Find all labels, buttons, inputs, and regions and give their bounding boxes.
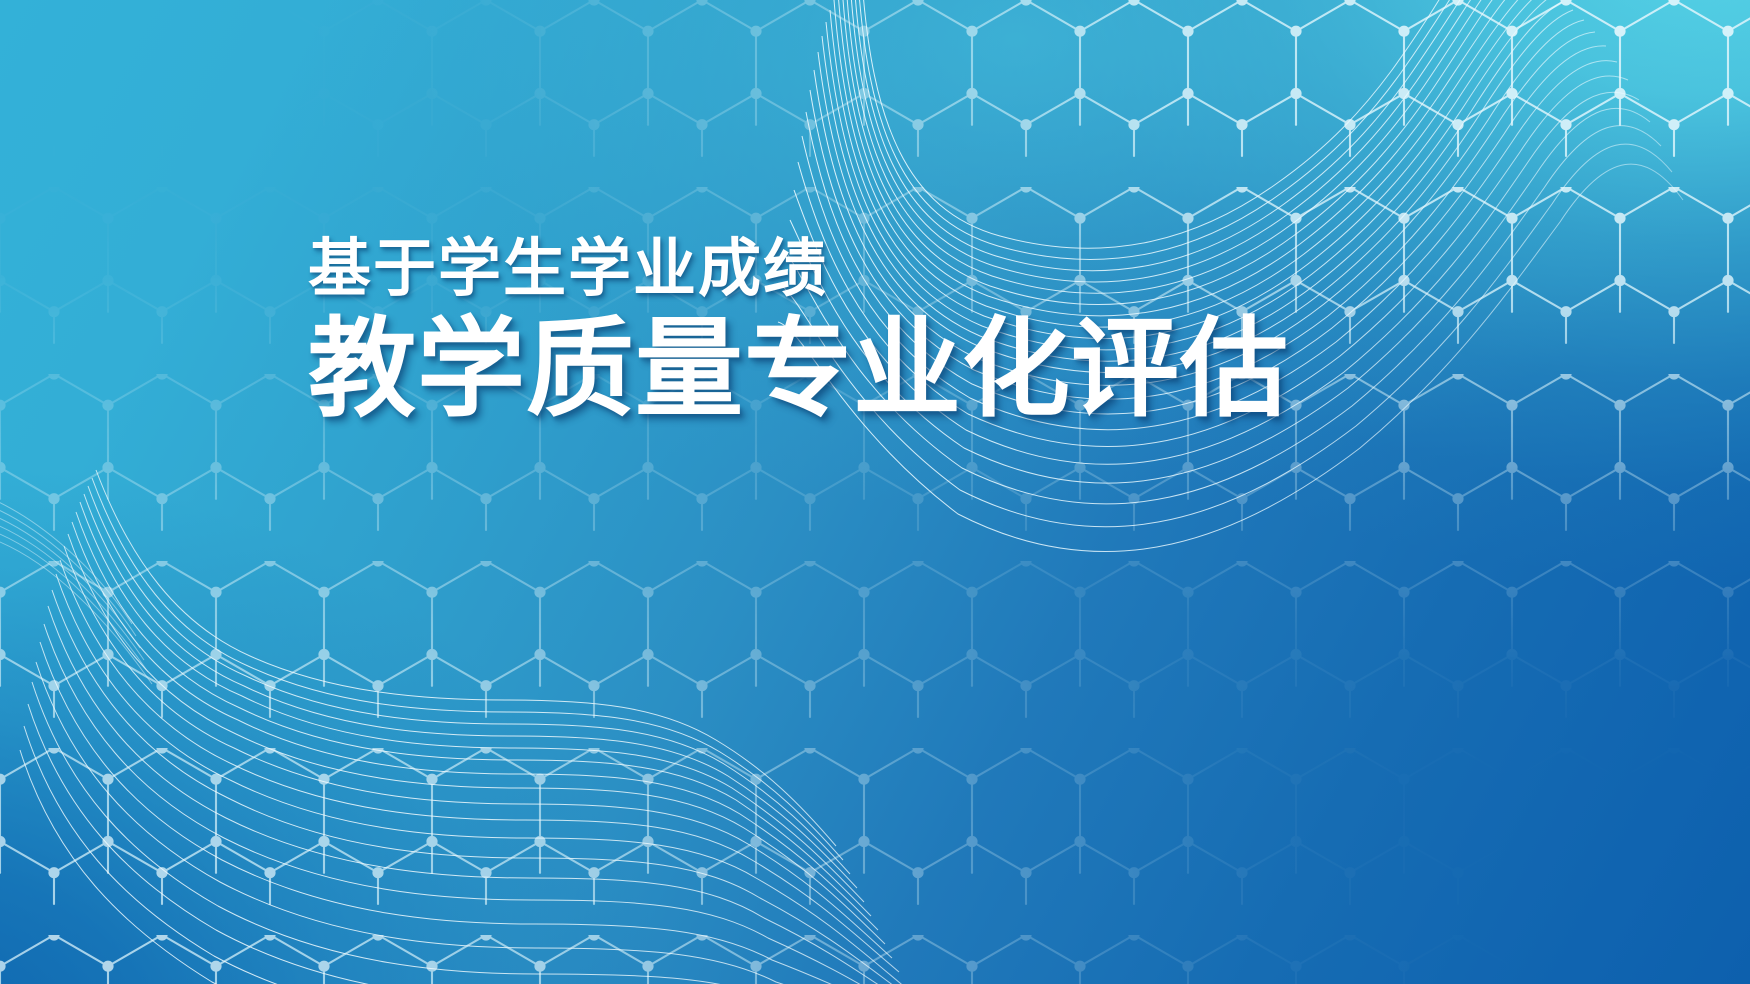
slide-subtitle: 基于学生学业成绩	[308, 236, 1348, 303]
title-block: 基于学生学业成绩 教学质量专业化评估	[308, 236, 1348, 423]
background-deep-blue-corner	[0, 0, 1750, 984]
slide-canvas: 基于学生学业成绩 教学质量专业化评估	[0, 0, 1750, 984]
slide-title: 教学质量专业化评估	[308, 315, 1348, 423]
